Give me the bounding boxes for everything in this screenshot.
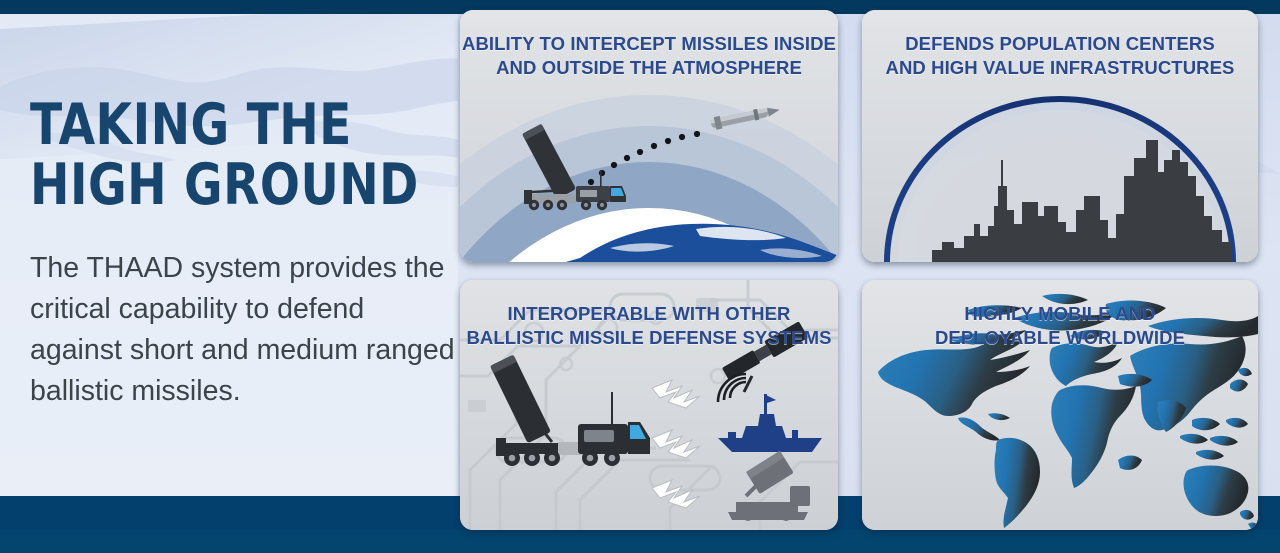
card-mobile-deployable: HIGHLY MOBILE AND DEPLOYABLE WORLDWIDE bbox=[862, 280, 1258, 530]
intro-paragraph: The THAAD system provides the critical c… bbox=[30, 248, 455, 412]
card-title-line-2: DEPLOYABLE WORLDWIDE bbox=[862, 326, 1258, 350]
headline-line-2: HIGH GROUND bbox=[30, 155, 416, 215]
card-title-line-1: DEFENDS POPULATION CENTERS bbox=[862, 32, 1258, 56]
page-title: TAKING THE HIGH GROUND bbox=[30, 95, 416, 215]
infographic-canvas: TAKING THE HIGH GROUND The THAAD system … bbox=[0, 0, 1280, 553]
card-title-defends-population: DEFENDS POPULATION CENTERS AND HIGH VALU… bbox=[862, 10, 1258, 79]
card-interoperable: INTEROPERABLE WITH OTHER BALLISTIC MISSI… bbox=[460, 280, 838, 530]
card-title-line-1: HIGHLY MOBILE AND bbox=[862, 302, 1258, 326]
card-title-mobile-deployable: HIGHLY MOBILE AND DEPLOYABLE WORLDWIDE bbox=[862, 280, 1258, 349]
card-title-line-1: ABILITY TO INTERCEPT MISSILES INSIDE bbox=[460, 32, 838, 56]
card-intercept: ABILITY TO INTERCEPT MISSILES INSIDE AND… bbox=[460, 10, 838, 262]
card-title-line-2: AND OUTSIDE THE ATMOSPHERE bbox=[460, 56, 838, 80]
card-title-line-2: BALLISTIC MISSILE DEFENSE SYSTEMS bbox=[460, 326, 838, 350]
card-title-line-1: INTEROPERABLE WITH OTHER bbox=[460, 302, 838, 326]
headline-line-1: TAKING THE bbox=[30, 95, 416, 155]
card-title-intercept: ABILITY TO INTERCEPT MISSILES INSIDE AND… bbox=[460, 10, 838, 79]
card-title-line-2: AND HIGH VALUE INFRASTRUCTURES bbox=[862, 56, 1258, 80]
bottom-navy-bar bbox=[0, 530, 1280, 553]
card-title-interoperable: INTEROPERABLE WITH OTHER BALLISTIC MISSI… bbox=[460, 280, 838, 349]
card-defends-population: DEFENDS POPULATION CENTERS AND HIGH VALU… bbox=[862, 10, 1258, 262]
